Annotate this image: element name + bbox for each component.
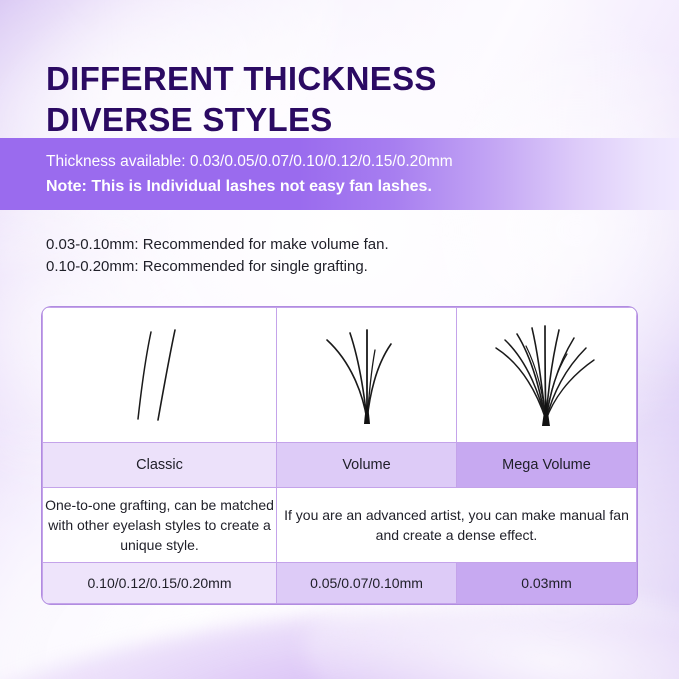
classic-image-cell bbox=[43, 308, 277, 443]
volume-fan-lash-icon bbox=[307, 316, 427, 434]
table-row-images bbox=[43, 308, 637, 443]
classic-lash-icon bbox=[105, 316, 215, 434]
size-cell-volume: 0.05/0.07/0.10mm bbox=[277, 563, 457, 604]
table-row-sizes: 0.10/0.12/0.15/0.20mm 0.05/0.07/0.10mm 0… bbox=[43, 563, 637, 604]
recommendation-single-grafting: 0.10-0.20mm: Recommended for single graf… bbox=[46, 256, 389, 278]
volume-image-cell bbox=[277, 308, 457, 443]
note-text: Note: This is Individual lashes not easy… bbox=[0, 174, 679, 199]
size-cell-mega-volume: 0.03mm bbox=[457, 563, 637, 604]
description-cell-volume-mega: If you are an advanced artist, you can m… bbox=[277, 488, 637, 563]
description-cell-classic: One-to-one grafting, can be matched with… bbox=[43, 488, 277, 563]
lash-thickness-infographic: DIFFERENT THICKNESS DIVERSE STYLES Thick… bbox=[0, 0, 679, 679]
size-cell-classic: 0.10/0.12/0.15/0.20mm bbox=[43, 563, 277, 604]
recommendation-list: 0.03-0.10mm: Recommended for make volume… bbox=[46, 234, 389, 278]
lash-comparison-table: Classic Volume Mega Volume One-to-one gr… bbox=[42, 307, 637, 604]
label-cell-mega-volume: Mega Volume bbox=[457, 443, 637, 488]
table-row-labels: Classic Volume Mega Volume bbox=[43, 443, 637, 488]
recommendation-volume-fan: 0.03-0.10mm: Recommended for make volume… bbox=[46, 234, 389, 256]
thickness-banner: Thickness available: 0.03/0.05/0.07/0.10… bbox=[0, 138, 679, 210]
page-title: DIFFERENT THICKNESS DIVERSE STYLES bbox=[46, 58, 437, 140]
mega-volume-image-cell bbox=[457, 308, 637, 443]
label-cell-classic: Classic bbox=[43, 443, 277, 488]
mega-volume-fan-lash-icon bbox=[482, 316, 612, 434]
thickness-available-text: Thickness available: 0.03/0.05/0.07/0.10… bbox=[0, 149, 679, 174]
label-cell-volume: Volume bbox=[277, 443, 457, 488]
table-row-descriptions: One-to-one grafting, can be matched with… bbox=[43, 488, 637, 563]
